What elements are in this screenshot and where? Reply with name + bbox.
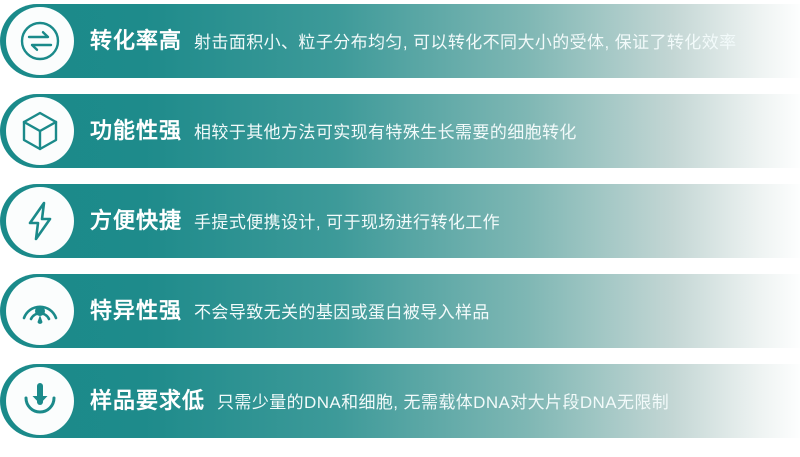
feature-description: 手提式便携设计, 可于现场进行转化工作 xyxy=(194,214,500,231)
feature-icon-badge xyxy=(6,367,74,435)
feature-row: 样品要求低 只需少量的DNA和细胞, 无需载体DNA对大片段DNA无限制 xyxy=(0,364,800,438)
feature-text: 样品要求低 只需少量的DNA和细胞, 无需载体DNA对大片段DNA无限制 xyxy=(90,390,669,412)
feature-title: 特异性强 xyxy=(90,300,182,322)
feature-description: 不会导致无关的基因或蛋白被导入样品 xyxy=(194,304,490,321)
feature-icon-badge xyxy=(6,97,74,165)
lightning-bolt-icon xyxy=(18,199,62,243)
feature-icon-badge xyxy=(6,277,74,345)
feature-text: 转化率高 射击面积小、粒子分布均匀, 可以转化不同大小的受体, 保证了转化效率 xyxy=(90,30,737,52)
feature-text: 特异性强 不会导致无关的基因或蛋白被导入样品 xyxy=(90,300,490,322)
feature-row: 转化率高 射击面积小、粒子分布均匀, 可以转化不同大小的受体, 保证了转化效率 xyxy=(0,4,800,78)
feature-row: 功能性强 相较于其他方法可实现有特殊生长需要的细胞转化 xyxy=(0,94,800,168)
feature-text: 功能性强 相较于其他方法可实现有特殊生长需要的细胞转化 xyxy=(90,120,577,142)
cube-box-icon xyxy=(18,109,62,153)
feature-description: 只需少量的DNA和细胞, 无需载体DNA对大片段DNA无限制 xyxy=(217,394,669,411)
feature-title: 样品要求低 xyxy=(90,390,205,412)
feature-description: 相较于其他方法可实现有特殊生长需要的细胞转化 xyxy=(194,124,577,141)
feature-row: 方便快捷 手提式便携设计, 可于现场进行转化工作 xyxy=(0,184,800,258)
feature-icon-badge xyxy=(6,187,74,255)
features-list: 转化率高 射击面积小、粒子分布均匀, 可以转化不同大小的受体, 保证了转化效率 … xyxy=(0,0,800,457)
feature-title: 转化率高 xyxy=(90,30,182,52)
feature-title: 功能性强 xyxy=(90,120,182,142)
feature-text: 方便快捷 手提式便携设计, 可于现场进行转化工作 xyxy=(90,210,500,232)
sample-download-icon xyxy=(17,378,63,424)
target-precision-icon xyxy=(17,288,63,334)
feature-title: 方便快捷 xyxy=(90,210,182,232)
exchange-arrows-icon xyxy=(17,18,63,64)
feature-description: 射击面积小、粒子分布均匀, 可以转化不同大小的受体, 保证了转化效率 xyxy=(194,34,737,51)
feature-icon-badge xyxy=(6,7,74,75)
feature-row: 特异性强 不会导致无关的基因或蛋白被导入样品 xyxy=(0,274,800,348)
